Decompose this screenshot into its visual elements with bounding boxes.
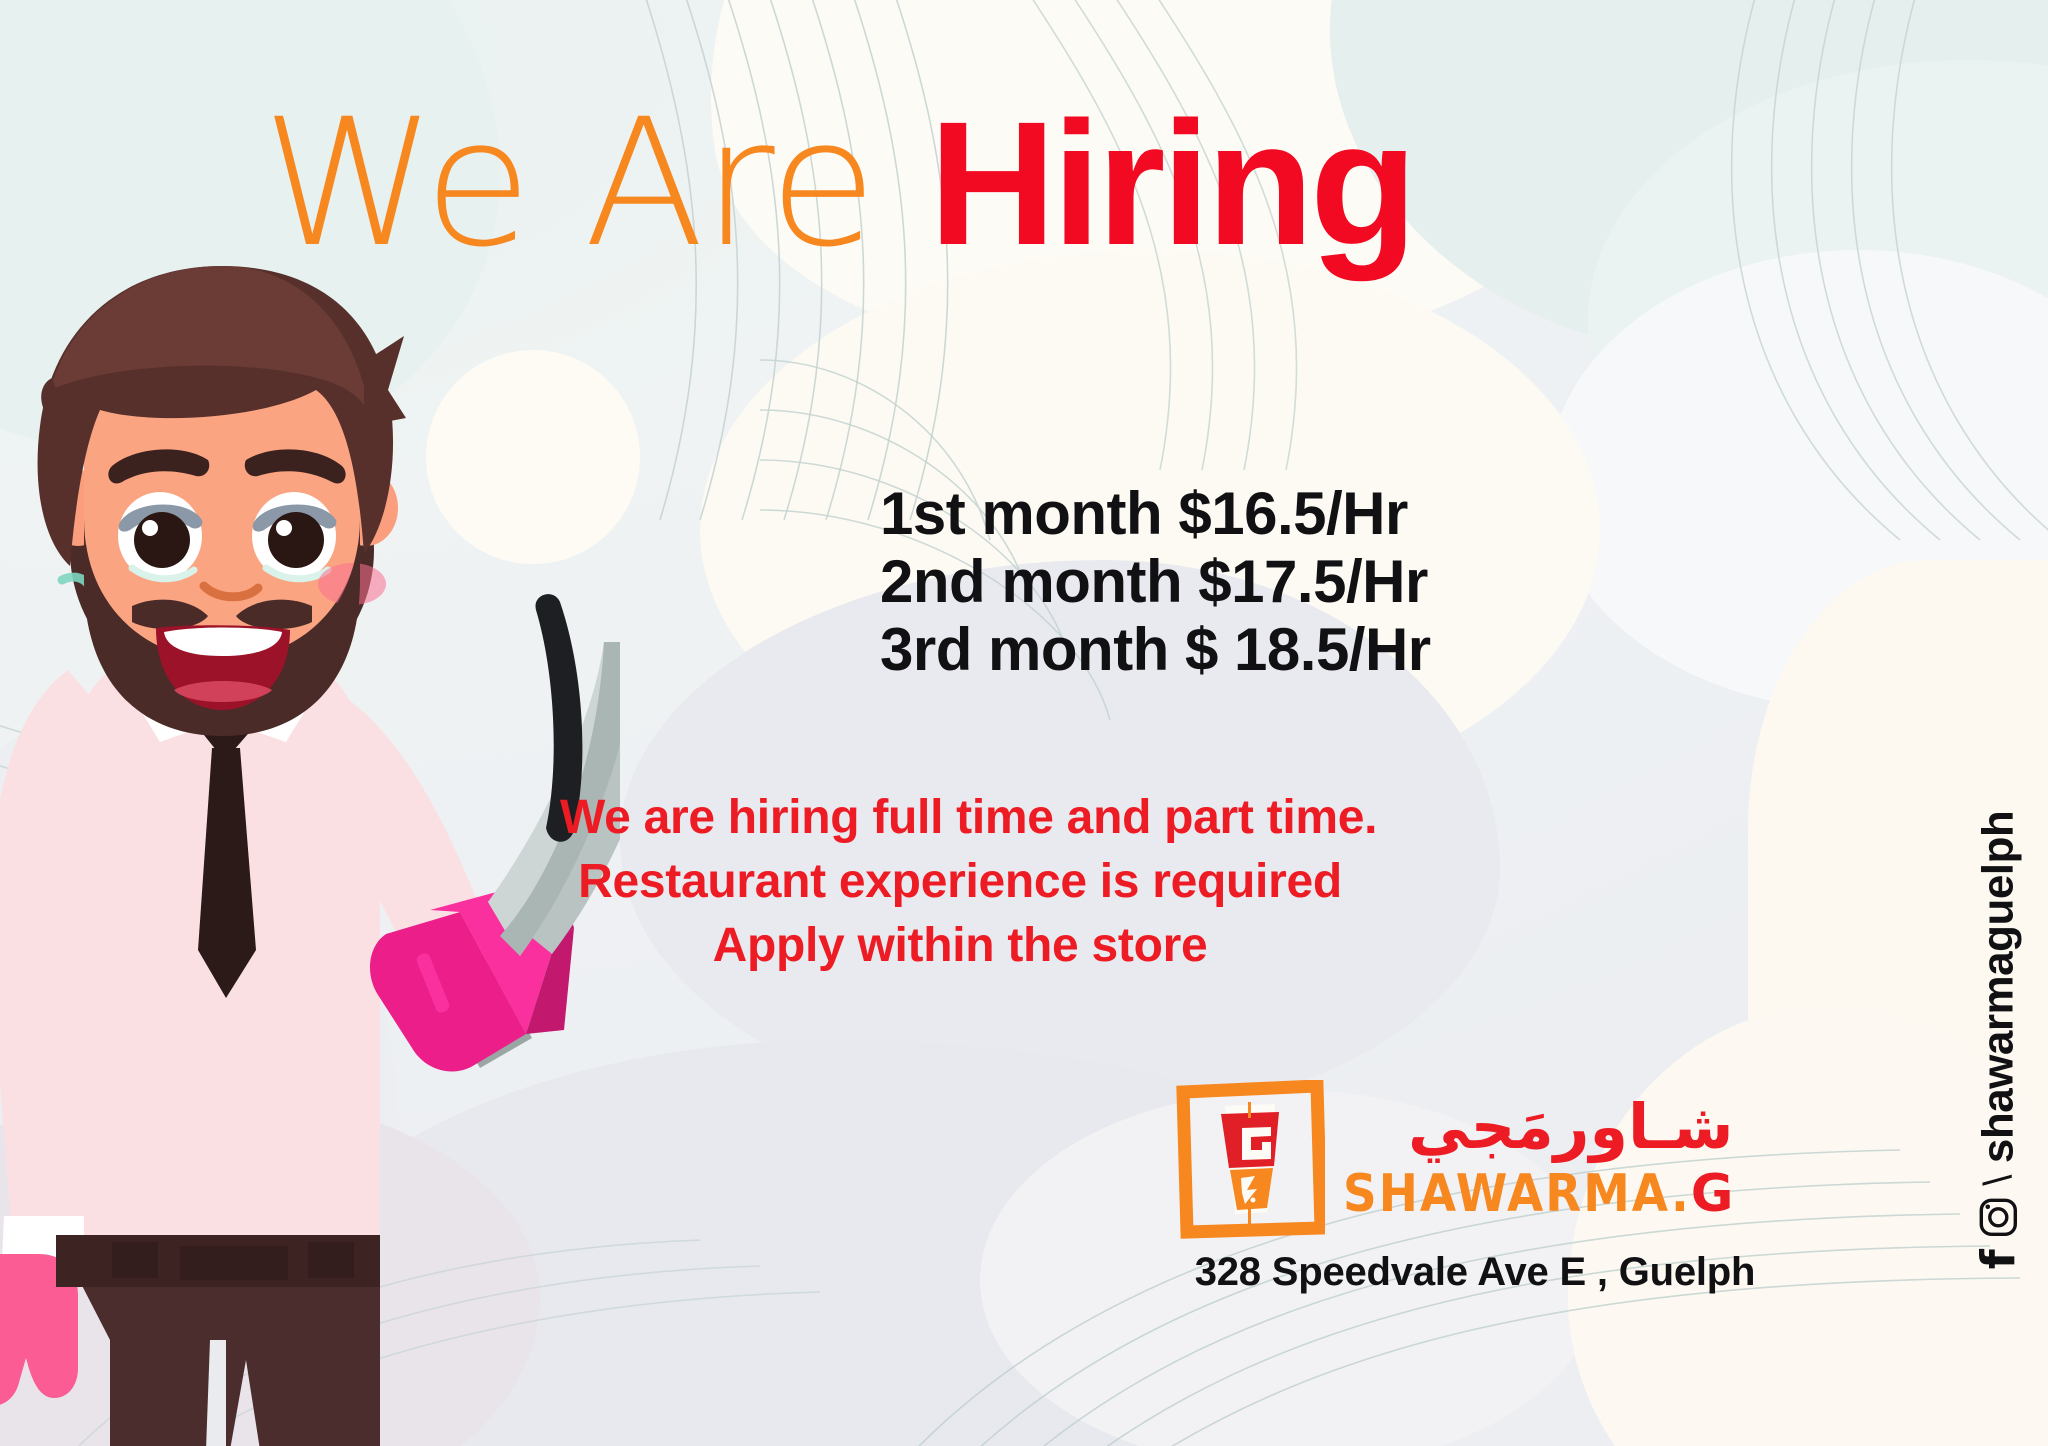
shawarma-cone-g-icon (1175, 1080, 1325, 1240)
wage-line-2: 2nd month $17.5/Hr (880, 548, 1360, 616)
man-with-megaphone-illustration (0, 250, 620, 1446)
headline-hiring: Hiring (929, 86, 1413, 282)
social-handle-vertical[interactable]: f \ shawarmaguelph (1958, 760, 2038, 1320)
store-address: 328 Speedvale Ave E , Guelph (1175, 1250, 1775, 1295)
logo-latin-g: G (1691, 1164, 1734, 1224)
facebook-f-icon[interactable]: f (1971, 1250, 2025, 1270)
logo-latin-name: SHAWARMA.G (1343, 1164, 1733, 1224)
wage-list: 1st month $16.5/Hr 2nd month $17.5/Hr 3r… (880, 480, 1360, 683)
description-line-1: We are hiring full time and part time. (560, 786, 1360, 850)
page-title: We Are Hiring (262, 96, 1413, 272)
hiring-description: We are hiring full time and part time. R… (560, 786, 1360, 977)
social-handle-text[interactable]: shawarmaguelph (1973, 811, 2023, 1163)
description-line-3: Apply within the store (560, 914, 1360, 978)
description-line-2: Restaurant experience is required (560, 850, 1360, 914)
hiring-poster: We Are Hiring 1st month $16.5/Hr 2nd mon… (0, 0, 2048, 1446)
logo-arabic-name: شـاورمَجي (1408, 1096, 1733, 1158)
social-separator: \ (1976, 1175, 2021, 1186)
instagram-icon[interactable] (1978, 1198, 2018, 1238)
brand-logo-block: شـاورمَجي SHAWARMA.G 328 Speedvale Ave E… (1175, 1080, 1775, 1295)
headline-we-are: We Are (262, 81, 929, 286)
social-handle-inner: f \ shawarmaguelph (1971, 811, 2025, 1270)
logo-latin-shawarma: SHAWARMA. (1343, 1164, 1691, 1224)
wage-line-1: 1st month $16.5/Hr (880, 480, 1360, 548)
wage-line-3: 3rd month $ 18.5/Hr (880, 616, 1360, 684)
logo-row: شـاورمَجي SHAWARMA.G (1175, 1080, 1775, 1240)
logo-wordmark: شـاورمَجي SHAWARMA.G (1343, 1096, 1733, 1224)
